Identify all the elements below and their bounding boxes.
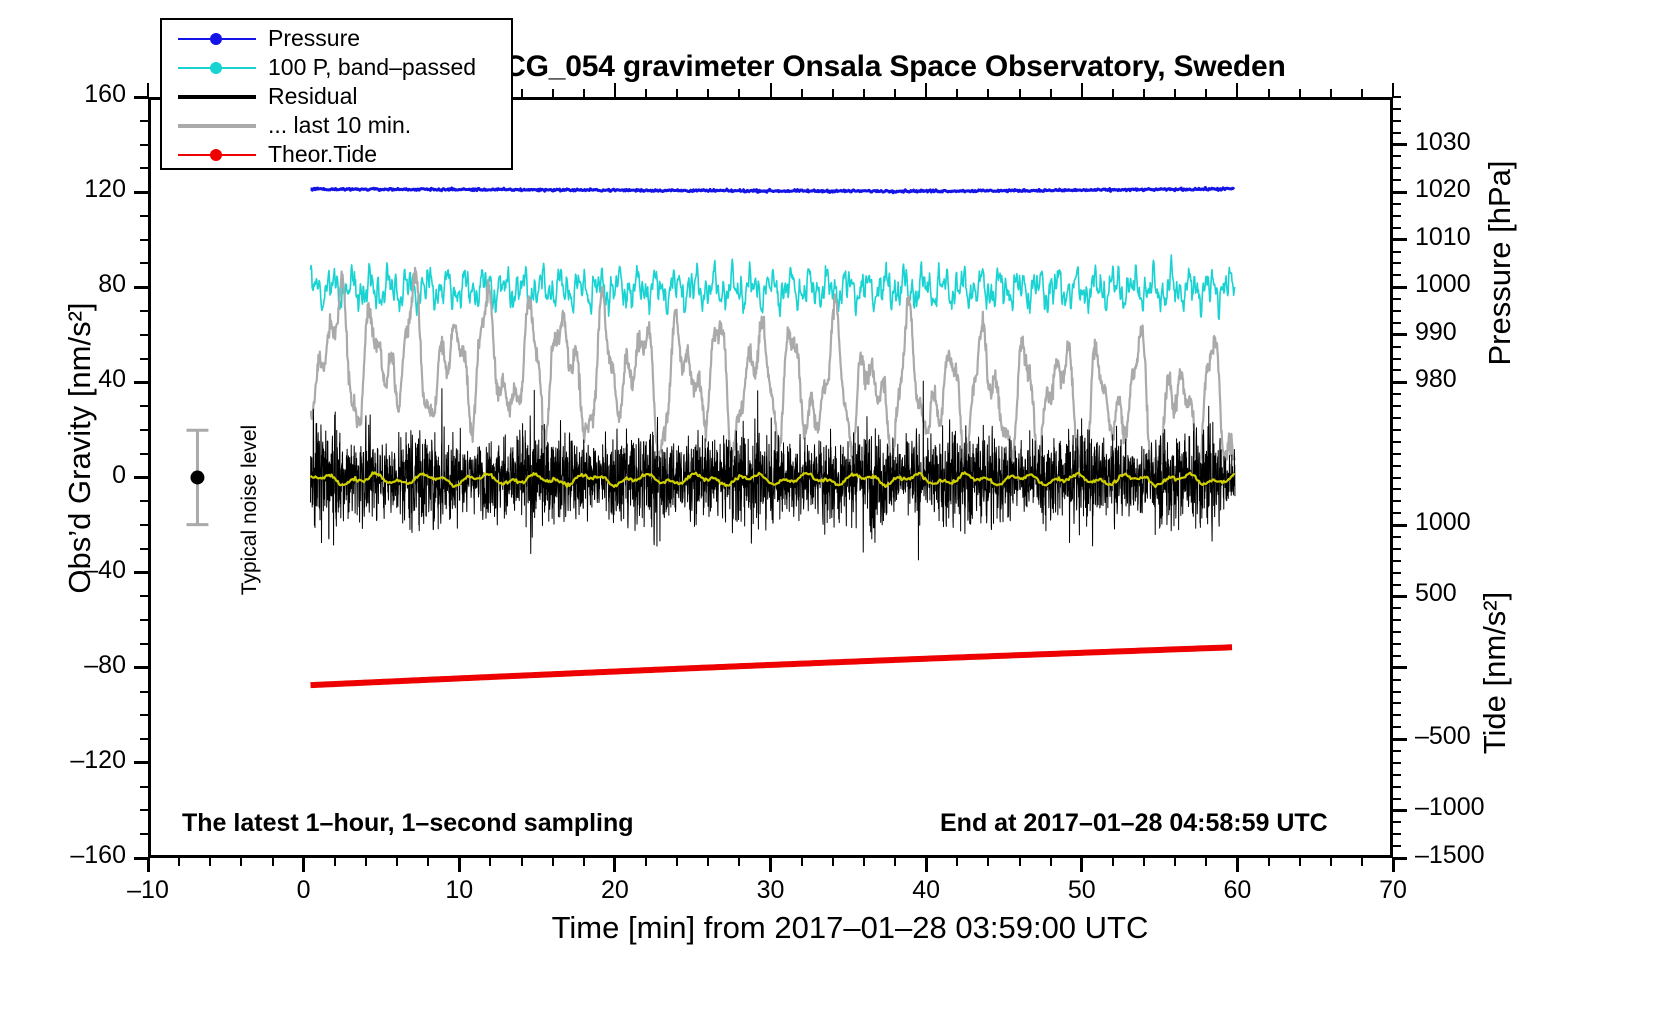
xtick-major — [1236, 858, 1239, 872]
xtick-minor — [240, 858, 242, 866]
xtick-minor — [1050, 858, 1052, 866]
xtick-top — [956, 89, 958, 97]
xtick-minor — [209, 858, 211, 866]
xtick-minor — [645, 858, 647, 866]
ytick-minor-right — [1393, 429, 1401, 431]
ytick-minor-right — [1393, 381, 1401, 383]
xtick-top — [1299, 89, 1301, 97]
ytick-minor-right — [1393, 108, 1401, 110]
xtick-top — [1361, 89, 1363, 97]
ytick-major-left — [134, 286, 148, 289]
ytick-minor-right — [1393, 691, 1401, 693]
xtick-top — [987, 89, 989, 97]
ytick-minor-left — [140, 358, 148, 360]
ytick-minor-right — [1393, 584, 1401, 586]
ytick-minor-right — [1393, 809, 1401, 811]
xtick-top — [1392, 83, 1394, 97]
xtick-top — [1330, 89, 1332, 97]
ytick-label-left: 160 — [36, 80, 126, 109]
typical-noise-level-label: Typical noise level — [238, 395, 262, 625]
xtick-label: –10 — [103, 876, 193, 905]
ytick-minor-right — [1393, 726, 1401, 728]
xtick-minor — [552, 858, 554, 866]
xtick-top — [614, 83, 616, 97]
xtick-top — [552, 89, 554, 97]
ytick-label-pressure: 1030 — [1415, 128, 1505, 157]
ytick-label-tide: –1500 — [1415, 841, 1505, 870]
xtick-top — [1205, 89, 1207, 97]
ytick-minor-left — [140, 310, 148, 312]
ytick-minor-right — [1393, 536, 1401, 538]
ytick-minor-left — [140, 714, 148, 716]
xtick-minor — [1112, 858, 1114, 866]
xtick-top — [707, 89, 709, 97]
xtick-label: 50 — [1037, 876, 1127, 905]
ytick-minor-left — [140, 595, 148, 597]
ytick-minor-right — [1393, 358, 1401, 360]
ytick-minor-right — [1393, 833, 1401, 835]
ytick-minor-right — [1393, 465, 1401, 467]
xtick-major — [458, 858, 461, 872]
ytick-minor-right — [1393, 274, 1401, 276]
xtick-top — [1081, 83, 1083, 97]
ytick-minor-left — [140, 524, 148, 526]
ytick-minor-right — [1393, 798, 1401, 800]
xtick-minor — [894, 858, 896, 866]
ytick-minor-left — [140, 643, 148, 645]
ytick-minor-right — [1393, 286, 1401, 288]
ytick-major-left — [134, 96, 148, 99]
xtick-major — [769, 858, 772, 872]
end-time-note: End at 2017–01–28 04:58:59 UTC — [940, 809, 1328, 838]
ytick-minor-right — [1393, 655, 1401, 657]
ytick-minor-right — [1393, 203, 1401, 205]
typical-noise-level-dot — [190, 471, 204, 485]
xtick-major — [147, 858, 150, 872]
xtick-top — [1268, 89, 1270, 97]
ytick-minor-right — [1393, 453, 1401, 455]
ytick-minor-left — [140, 167, 148, 169]
legend-item-theortide[interactable]: Theor.Tide — [162, 140, 511, 169]
xtick-minor — [832, 858, 834, 866]
ytick-minor-right — [1393, 631, 1401, 633]
xtick-minor — [396, 858, 398, 866]
ytick-label-pressure: 980 — [1415, 365, 1505, 394]
ytick-minor-right — [1393, 369, 1401, 371]
ytick-minor-right — [1393, 417, 1401, 419]
ytick-label-left: –40 — [36, 556, 126, 585]
ytick-minor-right — [1393, 595, 1401, 597]
ytick-label-left: 40 — [36, 365, 126, 394]
ytick-minor-left — [140, 738, 148, 740]
ytick-minor-right — [1393, 441, 1401, 443]
xtick-minor — [956, 858, 958, 866]
ytick-minor-left — [140, 809, 148, 811]
ytick-major-left — [134, 191, 148, 194]
ytick-minor-right — [1393, 702, 1401, 704]
xtick-label: 70 — [1348, 876, 1438, 905]
xtick-minor — [676, 858, 678, 866]
xtick-minor — [521, 858, 523, 866]
ytick-label-pressure: 1010 — [1415, 223, 1505, 252]
ytick-minor-left — [140, 500, 148, 502]
ytick-minor-right — [1393, 120, 1401, 122]
legend-label-theortide: Theor.Tide — [268, 141, 377, 168]
xtick-minor — [1174, 858, 1176, 866]
xtick-minor — [583, 858, 585, 866]
ytick-major-left — [134, 476, 148, 479]
ytick-minor-left — [140, 239, 148, 241]
xtick-minor — [863, 858, 865, 866]
xtick-top — [676, 89, 678, 97]
plot-area — [148, 97, 1393, 858]
ytick-minor-right — [1393, 548, 1401, 550]
xtick-minor — [1330, 858, 1332, 866]
ytick-label-tide: –1000 — [1415, 793, 1505, 822]
ytick-major-left — [134, 571, 148, 574]
xtick-top — [1050, 89, 1052, 97]
xtick-top — [801, 89, 803, 97]
xtick-minor — [427, 858, 429, 866]
ytick-minor-right — [1393, 714, 1401, 716]
xtick-top — [1236, 83, 1238, 97]
ytick-minor-right — [1393, 750, 1401, 752]
xtick-top — [147, 83, 149, 97]
xtick-minor — [801, 858, 803, 866]
ytick-minor-right — [1393, 500, 1401, 502]
ytick-minor-right — [1393, 179, 1401, 181]
legend-item-last10min[interactable]: ... last 10 min. — [162, 111, 511, 140]
ytick-minor-right — [1393, 215, 1401, 217]
ytick-minor-right — [1393, 322, 1401, 324]
series-pressure — [311, 187, 1235, 192]
xtick-major — [1392, 858, 1395, 872]
xtick-top — [645, 89, 647, 97]
ytick-minor-left — [140, 120, 148, 122]
xtick-top — [1174, 89, 1176, 97]
xtick-minor — [1268, 858, 1270, 866]
ytick-minor-right — [1393, 155, 1401, 157]
ytick-minor-left — [140, 453, 148, 455]
ytick-minor-right — [1393, 786, 1401, 788]
ytick-minor-right — [1393, 488, 1401, 490]
ytick-minor-left — [140, 215, 148, 217]
ytick-minor-left — [140, 548, 148, 550]
ytick-minor-right — [1393, 239, 1401, 241]
ytick-minor-right — [1393, 405, 1401, 407]
ytick-minor-left — [140, 833, 148, 835]
ytick-minor-right — [1393, 560, 1401, 562]
ytick-minor-right — [1393, 346, 1401, 348]
ytick-major-left — [134, 381, 148, 384]
ytick-label-pressure: 1020 — [1415, 175, 1505, 204]
ytick-minor-right — [1393, 262, 1401, 264]
y-axis-label-pressure: Pressure [hPa] — [1482, 53, 1518, 473]
xtick-top — [894, 89, 896, 97]
legend-label-bandpassed: 100 P, band–passed — [268, 54, 476, 81]
xtick-label: 0 — [259, 876, 349, 905]
ytick-minor-right — [1393, 512, 1401, 514]
ytick-label-tide: 500 — [1415, 579, 1505, 608]
ytick-minor-right — [1393, 762, 1401, 764]
ytick-minor-right — [1393, 607, 1401, 609]
series-theor-tide — [311, 647, 1233, 685]
plot-canvas — [151, 100, 1390, 855]
xtick-top — [1112, 89, 1114, 97]
ytick-minor-left — [140, 786, 148, 788]
xtick-label: 40 — [881, 876, 971, 905]
ytick-minor-right — [1393, 667, 1401, 669]
ytick-label-pressure: 1000 — [1415, 270, 1505, 299]
legend-swatch-pressure — [178, 29, 256, 49]
xtick-minor — [334, 858, 336, 866]
legend-swatch-theortide — [178, 145, 256, 165]
xtick-label: 30 — [726, 876, 816, 905]
legend-item-bandpassed[interactable]: 100 P, band–passed — [162, 53, 511, 82]
ytick-label-left: –160 — [36, 841, 126, 870]
xtick-top — [832, 89, 834, 97]
xtick-top — [583, 89, 585, 97]
xtick-minor — [738, 858, 740, 866]
ytick-label-pressure: 990 — [1415, 318, 1505, 347]
ytick-minor-right — [1393, 845, 1401, 847]
xtick-label: 10 — [414, 876, 504, 905]
ytick-minor-right — [1393, 96, 1401, 98]
xtick-minor — [272, 858, 274, 866]
ytick-minor-right — [1393, 251, 1401, 253]
ytick-minor-right — [1393, 310, 1401, 312]
ytick-minor-right — [1393, 572, 1401, 574]
ytick-minor-right — [1393, 477, 1401, 479]
ytick-minor-right — [1393, 393, 1401, 395]
xtick-minor — [1019, 858, 1021, 866]
ytick-minor-left — [140, 691, 148, 693]
ytick-minor-left — [140, 405, 148, 407]
xtick-major — [613, 858, 616, 872]
ytick-minor-right — [1393, 132, 1401, 134]
xtick-major — [925, 858, 928, 872]
ytick-minor-right — [1393, 298, 1401, 300]
legend-swatch-bandpassed — [178, 58, 256, 78]
ytick-label-left: 120 — [36, 175, 126, 204]
xtick-top — [925, 83, 927, 97]
ytick-minor-right — [1393, 227, 1401, 229]
ytick-minor-right — [1393, 738, 1401, 740]
xtick-label: 60 — [1192, 876, 1282, 905]
ytick-minor-right — [1393, 144, 1401, 146]
xtick-label: 20 — [570, 876, 660, 905]
ytick-minor-right — [1393, 619, 1401, 621]
xtick-minor — [987, 858, 989, 866]
xtick-minor — [178, 858, 180, 866]
xtick-minor — [365, 858, 367, 866]
ytick-label-left: 80 — [36, 270, 126, 299]
legend-item-pressure[interactable]: Pressure — [162, 24, 511, 53]
xtick-top — [863, 89, 865, 97]
xtick-top — [1143, 89, 1145, 97]
latest-sampling-note: The latest 1–hour, 1–second sampling — [182, 809, 634, 838]
x-axis-label: Time [min] from 2017–01–28 03:59:00 UTC — [0, 910, 1660, 946]
legend-swatch-residual — [178, 87, 256, 107]
legend-label-last10min: ... last 10 min. — [268, 112, 411, 139]
ytick-label-left: –120 — [36, 746, 126, 775]
xtick-major — [302, 858, 305, 872]
ytick-minor-right — [1393, 821, 1401, 823]
xtick-minor — [1205, 858, 1207, 866]
ytick-label-tide: 1000 — [1415, 508, 1505, 537]
legend-item-residual[interactable]: Residual — [162, 82, 511, 111]
xtick-top — [1019, 89, 1021, 97]
ytick-minor-left — [140, 144, 148, 146]
xtick-top — [770, 83, 772, 97]
ytick-minor-right — [1393, 167, 1401, 169]
ytick-minor-left — [140, 619, 148, 621]
ytick-minor-right — [1393, 774, 1401, 776]
ytick-minor-right — [1393, 191, 1401, 193]
xtick-major — [1080, 858, 1083, 872]
ytick-minor-left — [140, 334, 148, 336]
legend-swatch-last10min — [178, 116, 256, 136]
series-bandpassed — [311, 255, 1235, 319]
ytick-minor-right — [1393, 524, 1401, 526]
typical-noise-level-errorbar — [187, 430, 209, 524]
ytick-minor-right — [1393, 679, 1401, 681]
ytick-major-left — [134, 666, 148, 669]
ytick-major-left — [134, 761, 148, 764]
xtick-top — [521, 89, 523, 97]
ytick-minor-left — [140, 429, 148, 431]
ytick-minor-right — [1393, 334, 1401, 336]
xtick-minor — [1143, 858, 1145, 866]
xtick-minor — [707, 858, 709, 866]
xtick-minor — [1361, 858, 1363, 866]
ytick-label-left: –80 — [36, 651, 126, 680]
xtick-top — [738, 89, 740, 97]
ytick-minor-right — [1393, 643, 1401, 645]
ytick-minor-left — [140, 262, 148, 264]
legend-label-residual: Residual — [268, 83, 358, 110]
ytick-label-tide: –500 — [1415, 722, 1505, 751]
xtick-minor — [489, 858, 491, 866]
ytick-label-left: 0 — [36, 461, 126, 490]
xtick-minor — [1299, 858, 1301, 866]
gravimeter-chart-page: SCG_054 gravimeter Onsala Space Observat… — [0, 0, 1660, 1020]
legend: Pressure 100 P, band–passed Residual ...… — [160, 18, 513, 170]
legend-label-pressure: Pressure — [268, 25, 360, 52]
ytick-minor-right — [1393, 857, 1401, 859]
